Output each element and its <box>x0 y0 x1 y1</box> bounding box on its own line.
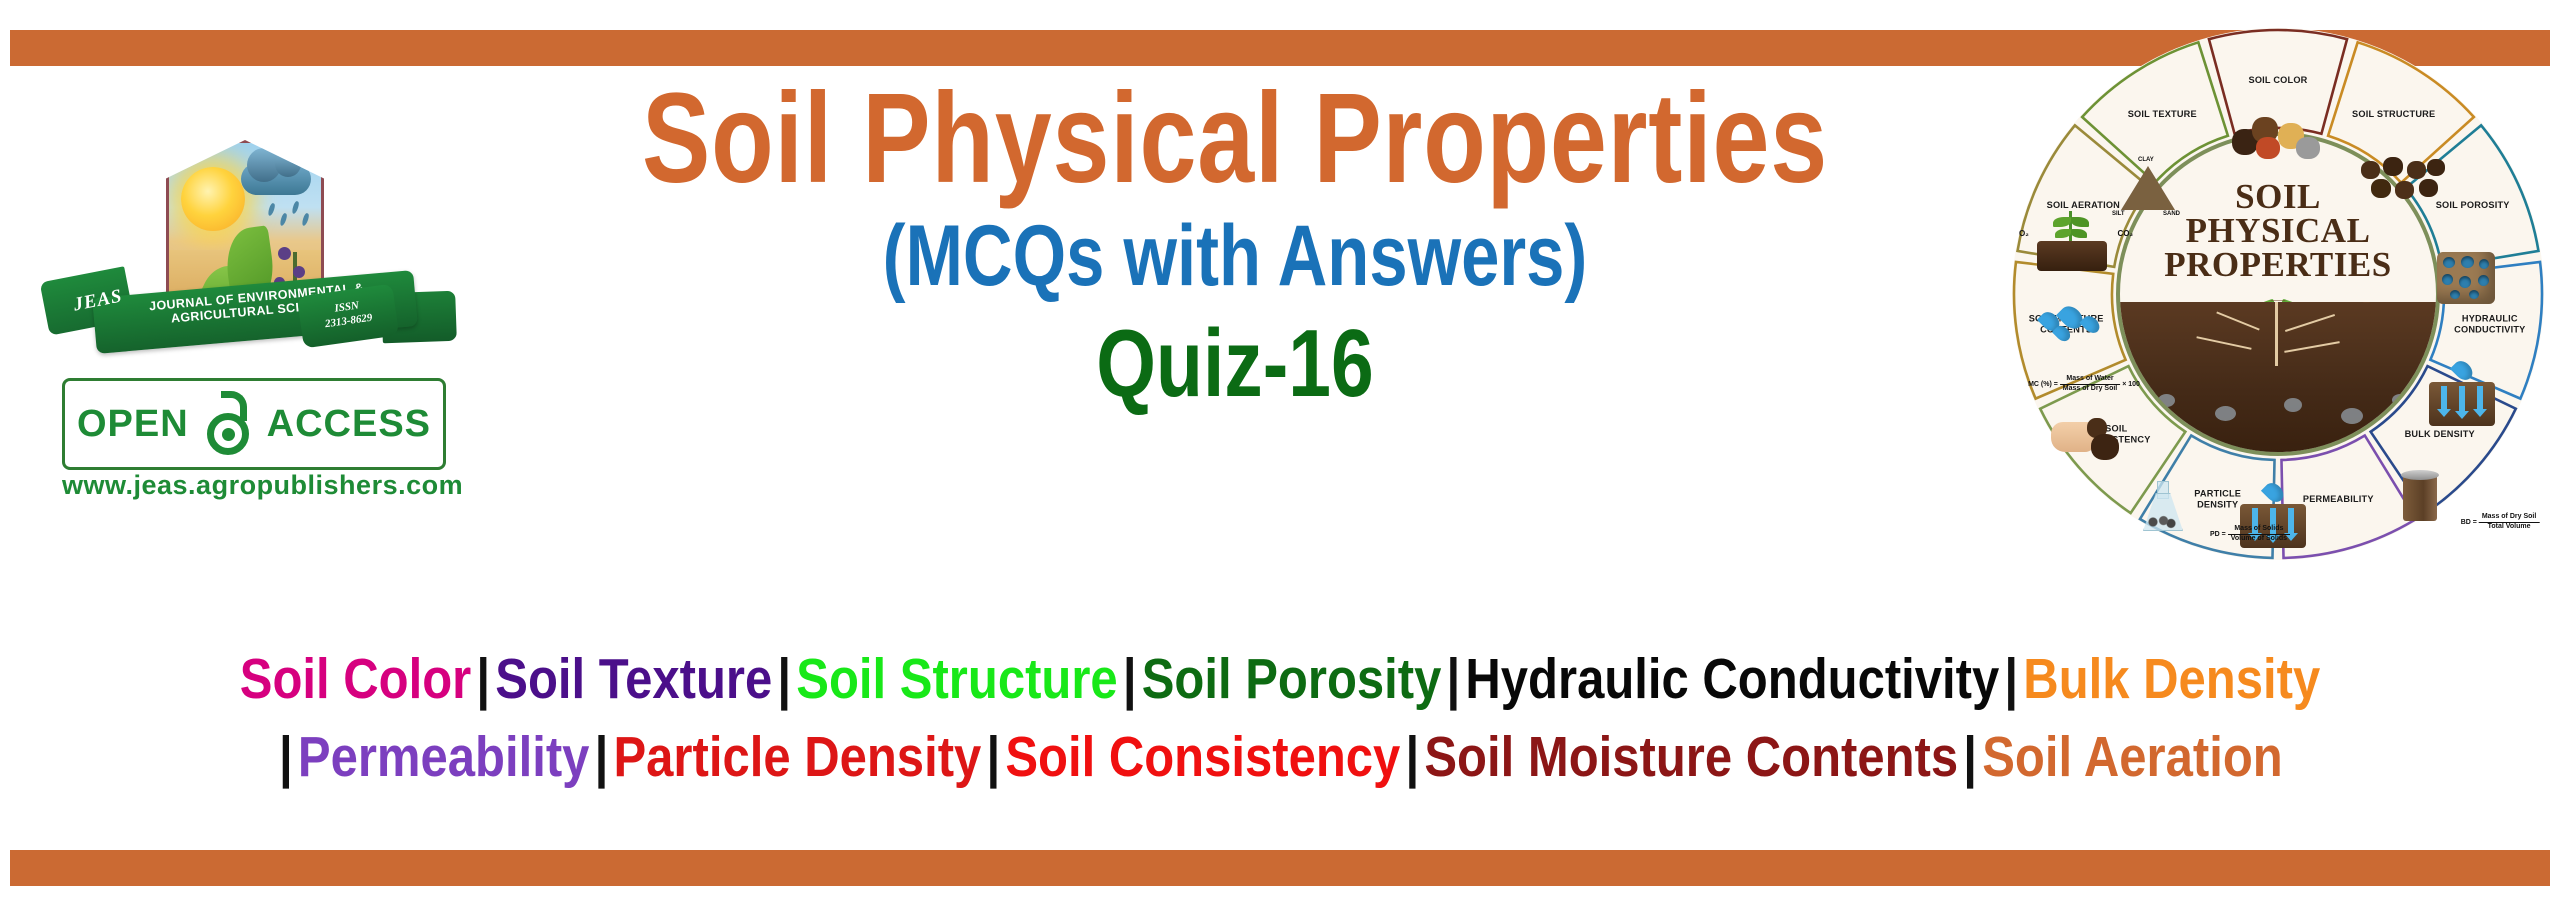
moisture-content-formula: MC (%) = Mass of Water Mass of Dry Soil … <box>2028 375 2140 393</box>
texture-label-clay: CLAY <box>2138 157 2154 163</box>
particle-density-formula: PD = Mass of Solids Volume of Solids <box>2210 525 2290 543</box>
keyword-item: Soil Color <box>238 647 473 711</box>
wheel-segment-label: SOIL STRUCTURE <box>2349 109 2439 120</box>
bottom-accent-bar <box>10 850 2550 886</box>
center-title-line2: PHYSICAL <box>2120 214 2436 248</box>
pd-denominator: Volume of Solids <box>2228 535 2290 544</box>
keyword-line-2: |Permeability|Particle Density|Soil Cons… <box>205 718 2355 796</box>
issn-value: 2313-8629 <box>324 312 373 331</box>
keyword-separator: | <box>591 725 612 789</box>
page-title: Soil Physical Properties <box>623 80 1847 198</box>
mc-lhs: MC (%) = <box>2028 381 2058 388</box>
keyword-separator: | <box>276 725 297 789</box>
mc-factor: × 100 <box>2122 381 2140 388</box>
journal-logo: JEAS JOURNAL OF ENVIRONMENTAL & AGRICULT… <box>38 140 458 540</box>
bd-denominator: Total Volume <box>2479 523 2539 532</box>
keyword-separator: | <box>1960 725 1981 789</box>
issn-label: ISSN <box>334 299 360 314</box>
mc-numerator: Mass of Water <box>2060 375 2120 385</box>
banner-page: JEAS JOURNAL OF ENVIRONMENTAL & AGRICULT… <box>0 0 2560 919</box>
soil-aeration-illustration: O₂ CO₂ <box>2031 211 2117 273</box>
keyword-item: Soil Porosity <box>1140 647 1443 711</box>
keyword-item: Permeability <box>296 725 591 789</box>
headline-stack: Soil Physical Properties (MCQs with Answ… <box>470 80 2000 416</box>
soil-profile-illustration <box>2120 302 2436 452</box>
keyword-item: Hydraulic Conductivity <box>1464 647 2001 711</box>
keyword-item: Soil Consistency <box>1004 725 1402 789</box>
keyword-item: Soil Texture <box>494 647 774 711</box>
hydraulic-conductivity-illustration <box>2425 374 2503 438</box>
bulk-density-cylinder-icon <box>2403 475 2437 521</box>
keyword-separator: | <box>2001 647 2022 711</box>
keyword-separator: | <box>1119 647 1140 711</box>
keyword-line-1: Soil Color|Soil Texture|Soil Structure|S… <box>205 640 2355 718</box>
keyword-item: Soil Moisture Contents <box>1423 725 1960 789</box>
soil-texture-triangle-icon: CLAY SILT SAND <box>2121 166 2175 210</box>
keyword-item: Particle Density <box>612 725 983 789</box>
soil-color-illustration <box>2230 115 2326 161</box>
open-lock-icon <box>205 393 251 455</box>
mc-denominator: Mass of Dry Soil <box>2060 385 2120 394</box>
keyword-separator: | <box>983 725 1004 789</box>
keyword-item: Bulk Density <box>2022 647 2322 711</box>
keyword-separator: | <box>1443 647 1464 711</box>
soil-moisture-drops-icon <box>2042 311 2102 345</box>
keyword-item: Soil Structure <box>795 647 1120 711</box>
open-access-open-label: OPEN <box>77 403 189 446</box>
keyword-separator: | <box>1402 725 1423 789</box>
aeration-o2-label: O₂ <box>2019 229 2029 238</box>
bd-numerator: Mass of Dry Soil <box>2479 513 2539 523</box>
open-access-badge: OPEN ACCESS <box>62 378 446 470</box>
texture-label-sand: SAND <box>2163 211 2180 217</box>
center-title-line3: PROPERTIES <box>2120 248 2436 282</box>
bulk-density-formula: BD = Mass of Dry Soil Total Volume <box>2461 513 2540 531</box>
pd-lhs: PD = <box>2210 531 2226 538</box>
keyword-separator: | <box>473 647 494 711</box>
keyword-list: Soil Color|Soil Texture|Soil Structure|S… <box>30 640 2530 796</box>
particle-density-flask-icon <box>2143 481 2181 531</box>
aeration-co2-label: CO₂ <box>2117 229 2133 238</box>
soil-structure-illustration <box>2361 157 2447 203</box>
sun-icon <box>181 167 245 231</box>
journal-website: www.jeas.agropublishers.com <box>62 470 440 501</box>
wheel-segment-label: SOIL AERATION <box>2038 200 2128 211</box>
soil-properties-wheel-infographic: SOIL PHYSICAL PROPERTIES SOIL C <box>2012 28 2544 560</box>
quiz-number-label: Quiz-16 <box>623 312 1847 416</box>
wheel-segment-label: SOIL TEXTURE <box>2117 109 2207 120</box>
page-subtitle: (MCQs with Answers) <box>623 206 1847 306</box>
soil-consistency-illustration <box>2051 416 2125 464</box>
wheel-segment-label: SOIL COLOR <box>2233 75 2323 86</box>
rain-cloud-icon <box>241 163 311 195</box>
soil-porosity-cube-icon <box>2437 252 2495 304</box>
wheel-segment-label: HYDRAULIC CONDUCTIVITY <box>2445 314 2535 335</box>
pd-numerator: Mass of Solids <box>2228 525 2290 535</box>
open-access-access-label: ACCESS <box>267 403 431 446</box>
keyword-separator: | <box>774 647 795 711</box>
bd-lhs: BD = <box>2461 519 2477 526</box>
keyword-item: Soil Aeration <box>1980 725 2284 789</box>
